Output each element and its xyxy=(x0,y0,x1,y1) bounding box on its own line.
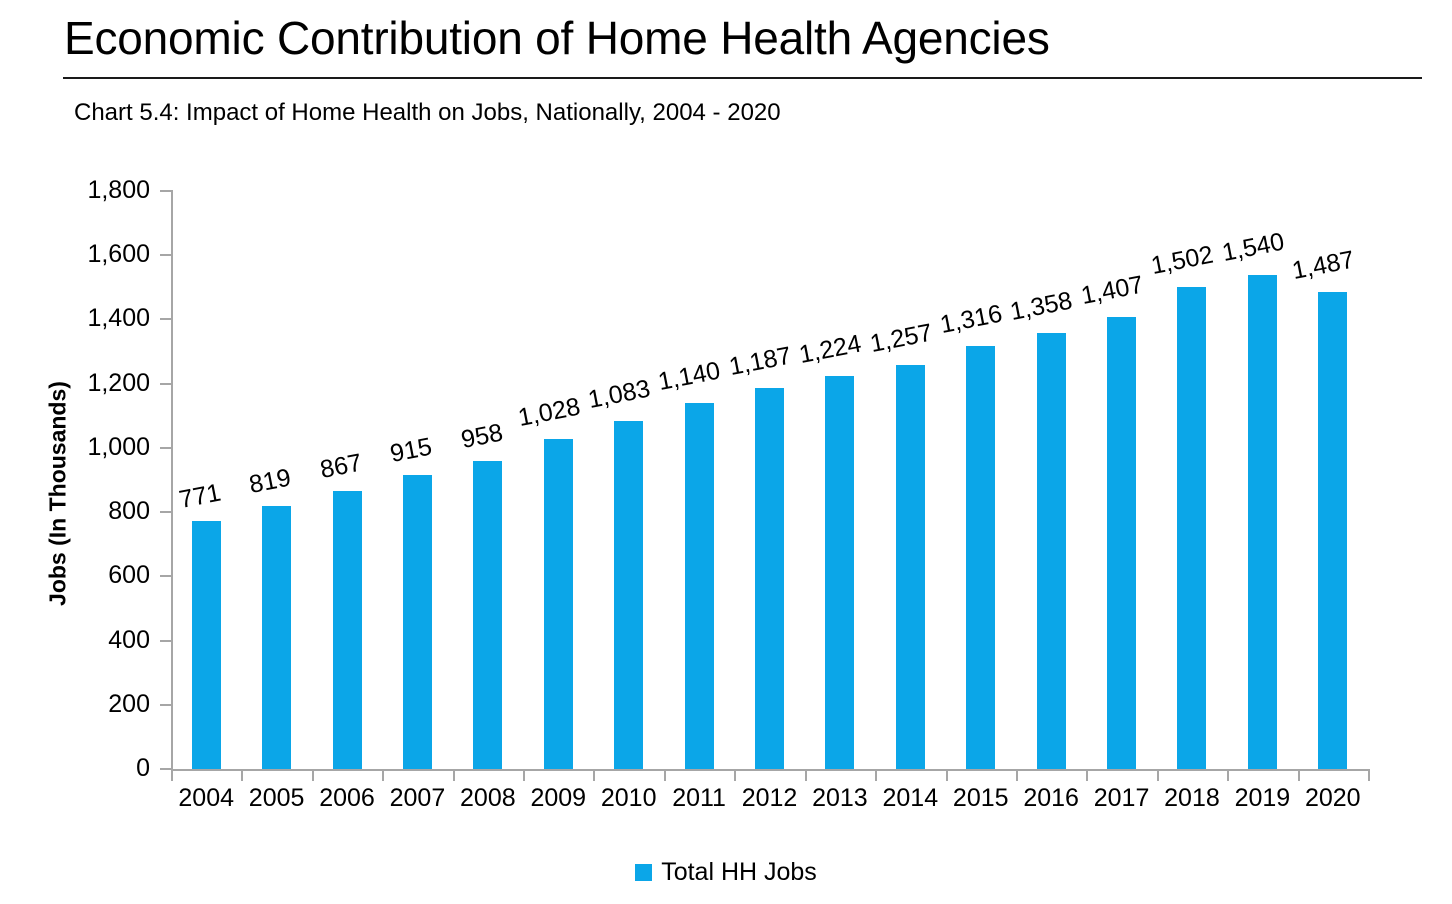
y-axis-tick xyxy=(160,704,171,706)
y-axis-tick xyxy=(160,383,171,385)
bar[interactable] xyxy=(1177,287,1206,769)
x-axis-tick xyxy=(1298,769,1300,781)
x-axis-tick xyxy=(453,769,455,781)
y-axis-tick-label: 600 xyxy=(108,563,150,588)
bar-data-label: 1,487 xyxy=(1290,247,1356,283)
x-axis-tick xyxy=(593,769,595,781)
bar-data-label: 1,083 xyxy=(586,377,652,413)
x-axis-tick xyxy=(1157,769,1159,781)
y-axis-tick-label: 800 xyxy=(108,499,150,524)
legend-swatch-icon xyxy=(635,864,652,881)
bar-data-label: 1,187 xyxy=(727,343,793,379)
x-axis-tick xyxy=(875,769,877,781)
bar-data-label: 1,140 xyxy=(657,358,723,394)
x-axis-tick xyxy=(734,769,736,781)
bar[interactable] xyxy=(1107,317,1136,769)
bar-data-label: 1,540 xyxy=(1220,230,1286,266)
bar[interactable] xyxy=(685,403,714,769)
bar-chart: Jobs (In Thousands) 02004006008001,0001,… xyxy=(0,0,1452,904)
y-axis-tick-label: 1,400 xyxy=(87,306,150,331)
x-axis-tick xyxy=(664,769,666,781)
bar[interactable] xyxy=(403,475,432,769)
y-axis-tick-label: 1,600 xyxy=(87,242,150,267)
bar-data-label: 1,502 xyxy=(1149,242,1215,278)
y-axis-tick xyxy=(160,768,171,770)
y-axis-tick-label: 1,800 xyxy=(87,178,150,203)
bar[interactable] xyxy=(1318,292,1347,769)
bar-data-label: 1,316 xyxy=(938,302,1004,338)
bar[interactable] xyxy=(544,439,573,769)
x-axis-tick xyxy=(1016,769,1018,781)
bar[interactable] xyxy=(755,388,784,769)
x-axis-tick xyxy=(1227,769,1229,781)
bar[interactable] xyxy=(966,346,995,769)
x-axis-tick xyxy=(382,769,384,781)
y-axis-tick xyxy=(160,190,171,192)
legend-label: Total HH Jobs xyxy=(661,858,817,887)
y-axis-tick xyxy=(160,575,171,577)
y-axis-tick-label: 1,200 xyxy=(87,371,150,396)
bar[interactable] xyxy=(614,421,643,769)
bar-data-label: 958 xyxy=(459,421,505,454)
y-axis-line xyxy=(171,190,173,770)
y-axis-tick-label: 0 xyxy=(136,756,150,781)
bar[interactable] xyxy=(192,521,221,769)
x-axis-tick xyxy=(1086,769,1088,781)
x-axis-tick xyxy=(523,769,525,781)
y-axis-tick-label: 400 xyxy=(108,628,150,653)
x-axis-tick xyxy=(241,769,243,781)
x-axis-tick xyxy=(1368,769,1370,781)
x-axis-tick xyxy=(171,769,173,781)
bar[interactable] xyxy=(825,376,854,769)
chart-legend: Total HH Jobs xyxy=(0,858,1452,887)
bar[interactable] xyxy=(1248,275,1277,770)
bar-data-label: 1,358 xyxy=(1009,288,1075,324)
bar-data-label: 1,407 xyxy=(1079,273,1145,309)
y-axis-tick-label: 200 xyxy=(108,692,150,717)
x-axis-tick xyxy=(946,769,948,781)
bar-data-label: 867 xyxy=(318,450,364,483)
bar-data-label: 1,257 xyxy=(868,321,934,357)
bar[interactable] xyxy=(473,461,502,769)
y-axis-tick xyxy=(160,318,171,320)
y-axis-tick xyxy=(160,640,171,642)
bar[interactable] xyxy=(1037,333,1066,769)
x-axis-tick xyxy=(312,769,314,781)
bar[interactable] xyxy=(896,365,925,769)
bar-data-label: 1,224 xyxy=(797,331,863,367)
x-axis-line xyxy=(171,769,1368,771)
y-axis-tick xyxy=(160,254,171,256)
y-axis-title: Jobs (In Thousands) xyxy=(45,364,72,624)
bar-data-label: 771 xyxy=(177,481,223,514)
bar-data-label: 819 xyxy=(248,465,294,498)
bar[interactable] xyxy=(333,491,362,769)
x-axis-tick xyxy=(805,769,807,781)
bar-data-label: 915 xyxy=(388,435,434,468)
y-axis-tick-label: 1,000 xyxy=(87,435,150,460)
bar-data-label: 1,028 xyxy=(516,394,582,430)
x-axis-tick-label: 2020 xyxy=(1288,786,1378,811)
y-axis-tick xyxy=(160,511,171,513)
y-axis-tick xyxy=(160,447,171,449)
bar[interactable] xyxy=(262,506,291,769)
